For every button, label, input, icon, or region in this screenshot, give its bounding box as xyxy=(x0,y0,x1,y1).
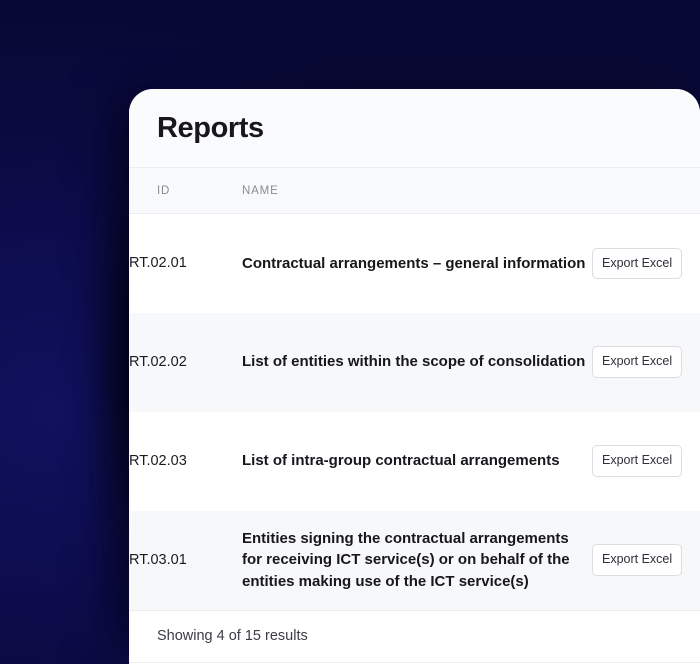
cell-report-id: RT.02.01 xyxy=(129,214,242,313)
table-header-row: ID NAME xyxy=(129,168,700,214)
cell-action: Export Excel xyxy=(592,511,700,610)
export-excel-button[interactable]: Export Excel xyxy=(592,248,682,280)
column-header-name: NAME xyxy=(242,168,592,214)
footer-divider xyxy=(129,662,700,663)
table-body: RT.02.01 Contractual arrangements – gene… xyxy=(129,214,700,610)
reports-card: Reports ID NAME RT.02.01 Contractual arr… xyxy=(129,89,700,664)
table-header: ID NAME xyxy=(129,168,700,214)
cell-action: Export Excel xyxy=(592,313,700,412)
cell-report-name: List of entities within the scope of con… xyxy=(242,313,592,412)
results-count-label: Showing 4 of 15 results xyxy=(157,628,308,644)
cell-report-id: RT.02.03 xyxy=(129,412,242,511)
export-excel-button[interactable]: Export Excel xyxy=(592,346,682,378)
cell-action: Export Excel xyxy=(592,214,700,313)
export-excel-button[interactable]: Export Excel xyxy=(592,445,682,477)
table-row[interactable]: RT.02.01 Contractual arrangements – gene… xyxy=(129,214,700,313)
table-row[interactable]: RT.03.01 Entities signing the contractua… xyxy=(129,511,700,610)
page-title: Reports xyxy=(157,114,264,143)
cell-report-id: RT.02.02 xyxy=(129,313,242,412)
cell-report-name: Entities signing the contractual arrange… xyxy=(242,511,592,610)
table-row[interactable]: RT.02.03 List of intra-group contractual… xyxy=(129,412,700,511)
cell-report-id: RT.03.01 xyxy=(129,511,242,610)
title-bar: Reports xyxy=(129,89,700,167)
reports-table: ID NAME RT.02.01 Contractual arrangement… xyxy=(129,167,700,610)
export-excel-button[interactable]: Export Excel xyxy=(592,544,682,576)
cell-action: Export Excel xyxy=(592,412,700,511)
column-header-id: ID xyxy=(129,168,242,214)
column-header-action xyxy=(592,168,700,214)
cell-report-name: Contractual arrangements – general infor… xyxy=(242,214,592,313)
cell-report-name: List of intra-group contractual arrangem… xyxy=(242,412,592,511)
table-footer: Showing 4 of 15 results xyxy=(129,610,700,662)
table-row[interactable]: RT.02.02 List of entities within the sco… xyxy=(129,313,700,412)
